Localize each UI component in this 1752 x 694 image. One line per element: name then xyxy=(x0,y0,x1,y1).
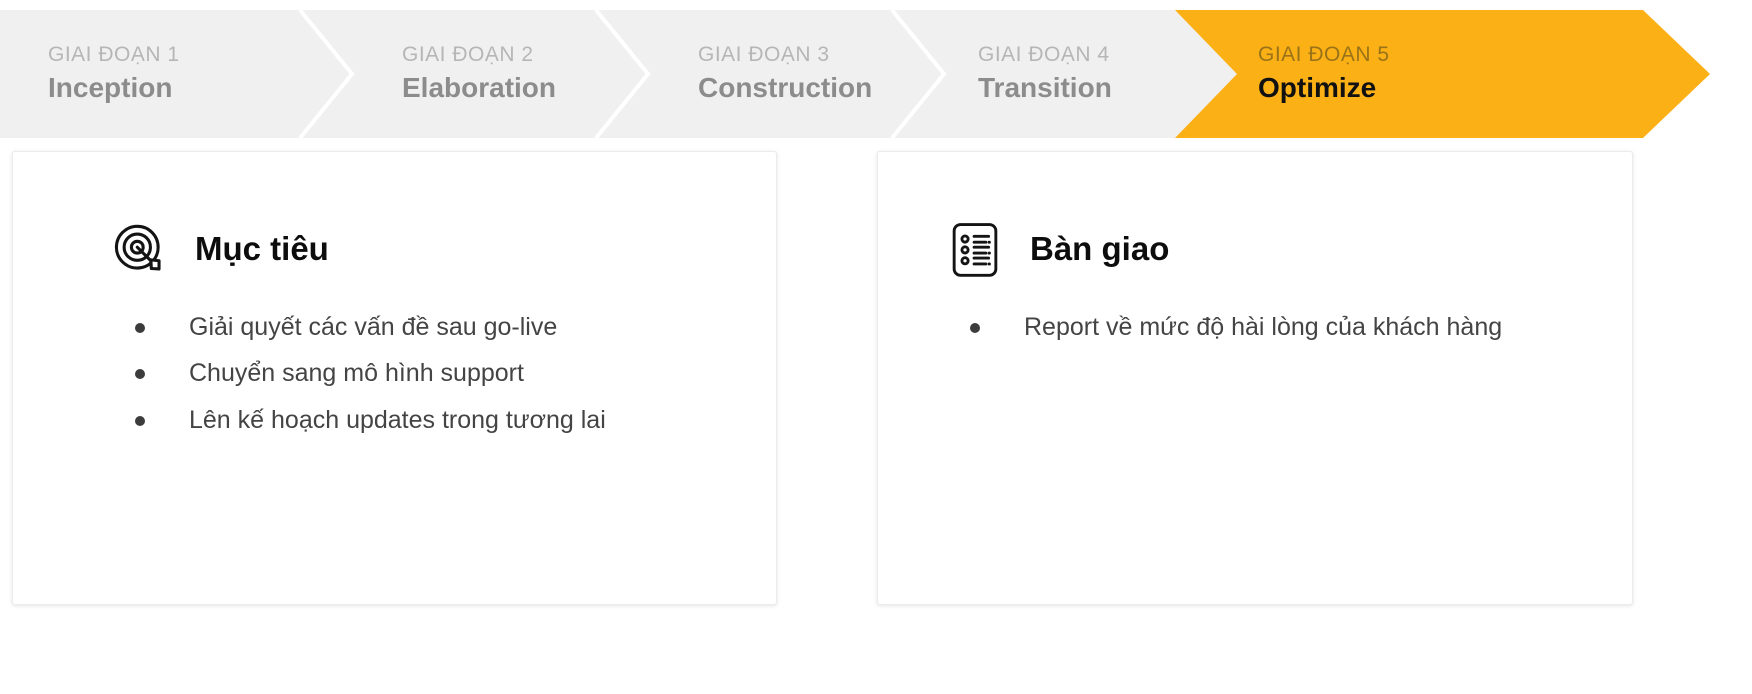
stage-item-3[interactable]: GIAI ĐOẠN 3 Construction xyxy=(698,10,968,138)
stage-title-1: Inception xyxy=(48,70,298,106)
stage-item-5[interactable]: GIAI ĐOẠN 5 Optimize xyxy=(1258,10,1390,138)
list-item: Chuyển sang mô hình support xyxy=(121,350,741,396)
objectives-list: Giải quyết các vấn đề sau go-live Chuyển… xyxy=(121,304,741,443)
stage-label-3: GIAI ĐOẠN 3 xyxy=(698,42,968,68)
stage-label-1: GIAI ĐOẠN 1 xyxy=(48,42,298,68)
stage-label-5: GIAI ĐOẠN 5 xyxy=(1258,42,1390,68)
stage-title-5: Optimize xyxy=(1258,70,1390,106)
stage-item-1[interactable]: GIAI ĐOẠN 1 Inception xyxy=(48,10,298,138)
checklist-icon xyxy=(946,220,1004,278)
stage-title-2: Elaboration xyxy=(402,70,652,106)
deliverables-card-title: Bàn giao xyxy=(1030,230,1169,268)
list-item: Giải quyết các vấn đề sau go-live xyxy=(121,304,741,350)
stage-item-2[interactable]: GIAI ĐOẠN 2 Elaboration xyxy=(402,10,652,138)
target-icon xyxy=(111,220,169,278)
phase-overview-page: GIAI ĐOẠN 1 Inception GIAI ĐOẠN 2 Elabor… xyxy=(0,0,1752,694)
list-item: Lên kế hoạch updates trong tương lai xyxy=(121,397,741,443)
deliverables-card-header: Bàn giao xyxy=(946,220,1169,278)
deliverables-card: Bàn giao Report về mức độ hài lòng của k… xyxy=(877,151,1633,605)
list-item: Report về mức độ hài lòng của khách hàng xyxy=(956,304,1516,350)
stage-label-2: GIAI ĐOẠN 2 xyxy=(402,42,652,68)
stage-title-3: Construction xyxy=(698,70,968,106)
objectives-card-header: Mục tiêu xyxy=(111,220,329,278)
stage-progress-bar: GIAI ĐOẠN 1 Inception GIAI ĐOẠN 2 Elabor… xyxy=(0,10,1752,138)
objectives-card: Mục tiêu Giải quyết các vấn đề sau go-li… xyxy=(12,151,777,605)
deliverables-list: Report về mức độ hài lòng của khách hàng xyxy=(956,304,1516,350)
stage-item-5-shape[interactable] xyxy=(1175,10,1710,138)
objectives-card-title: Mục tiêu xyxy=(195,230,329,268)
